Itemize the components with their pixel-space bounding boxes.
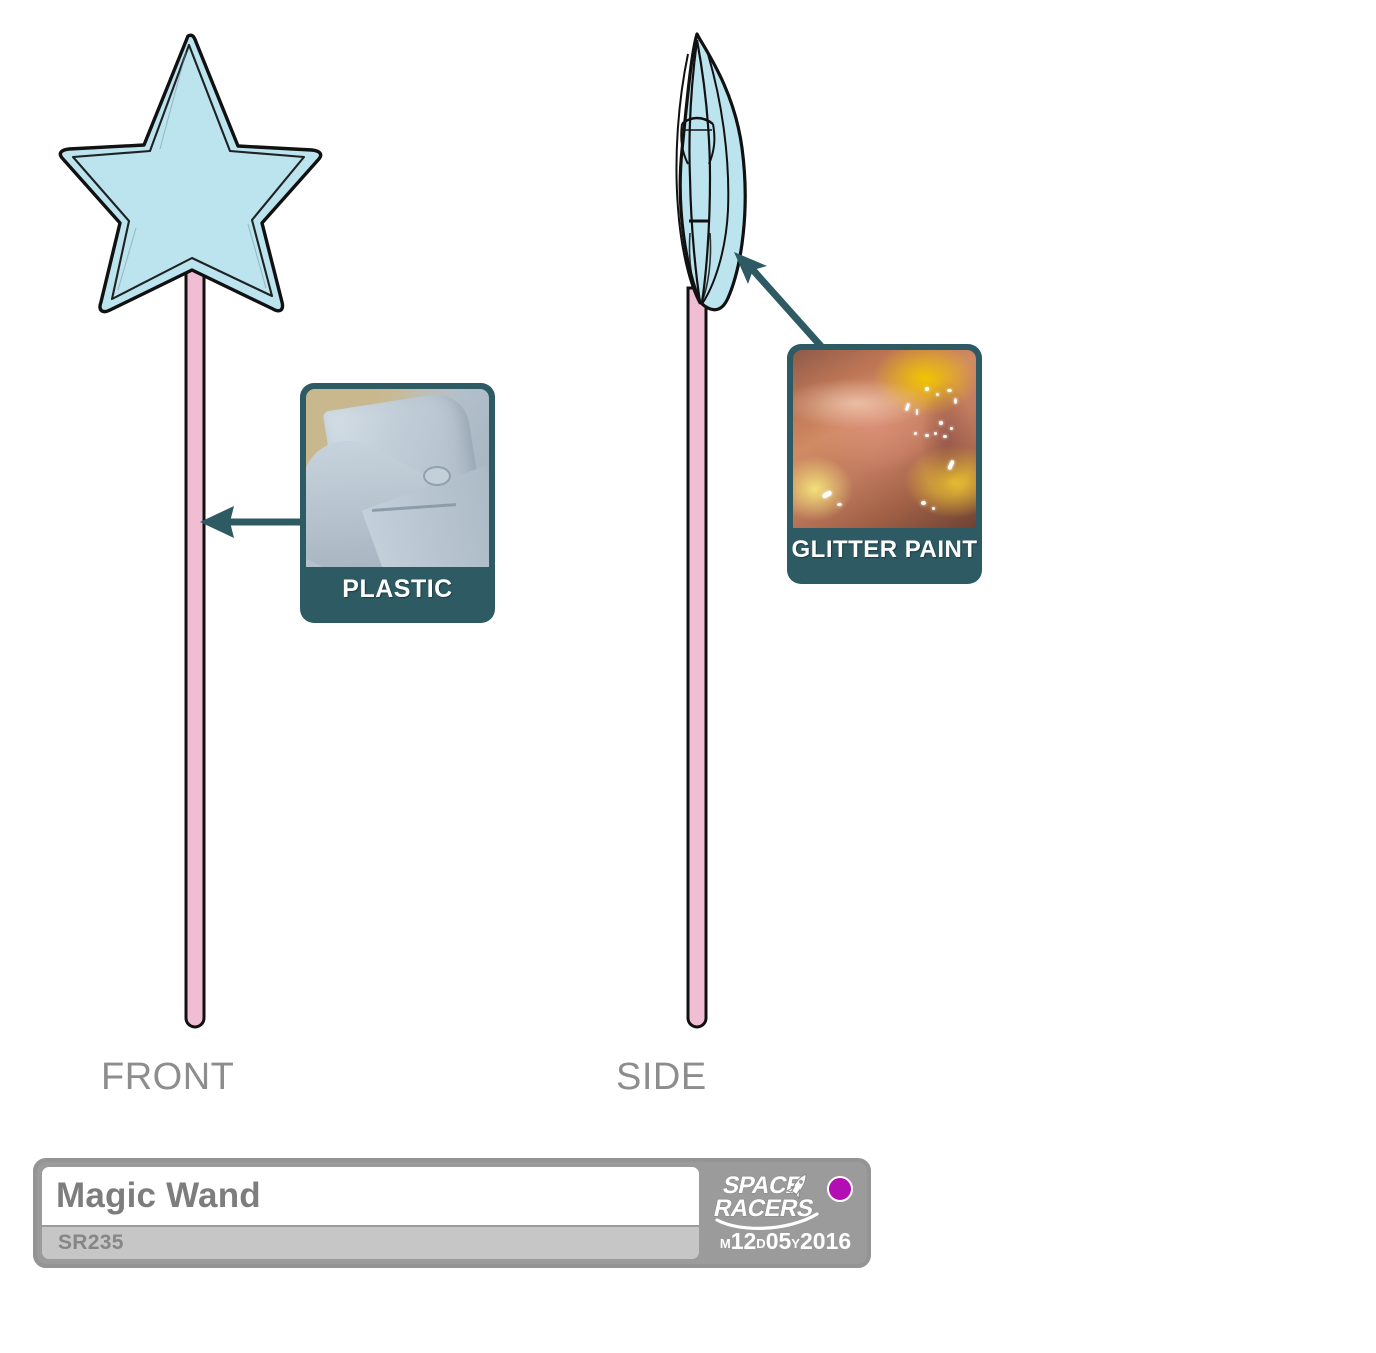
wand-handle-front	[186, 268, 204, 1027]
callout-glitter-label: GLITTER PAINT	[793, 528, 976, 572]
code-field[interactable]: SR235	[40, 1227, 701, 1261]
view-label-side: SIDE	[616, 1056, 707, 1099]
view-label-front: FRONT	[101, 1056, 234, 1099]
brand-status-dot	[827, 1176, 853, 1202]
date-day-prefix: D	[756, 1236, 765, 1251]
date-year-prefix: Y	[791, 1236, 800, 1251]
title-plate: Magic Wand SR235 .lg { font-family: "Lib…	[33, 1158, 871, 1268]
callout-plastic-photo	[306, 389, 489, 567]
date-year: 2016	[800, 1228, 851, 1254]
date-month-prefix: M	[720, 1236, 731, 1251]
title-field[interactable]: Magic Wand	[40, 1165, 701, 1227]
product-view-side	[630, 18, 800, 1048]
callout-plastic-label: PLASTIC	[306, 567, 489, 611]
product-code: SR235	[58, 1231, 124, 1255]
product-title: Magic Wand	[56, 1176, 261, 1216]
date-month: 12	[731, 1228, 757, 1254]
title-plate-left: Magic Wand SR235	[37, 1162, 704, 1264]
space-racers-logo: .lg { font-family: "Liberation Sans", sa…	[713, 1168, 829, 1230]
glitter-sparkles	[793, 350, 976, 528]
callout-plastic[interactable]: PLASTIC	[300, 383, 495, 623]
side-view-drawing	[630, 18, 800, 1048]
spec-sheet-canvas: FRONT SIDE PLASTIC	[0, 0, 1376, 1353]
plate-date: M12D05Y2016	[704, 1228, 867, 1255]
plastic-moulding-mark	[423, 466, 451, 486]
wand-handle-side	[688, 288, 706, 1027]
wand-star-head-front	[60, 35, 320, 311]
title-plate-right: .lg { font-family: "Liberation Sans", sa…	[704, 1162, 867, 1264]
callout-glitter-paint[interactable]: GLITTER PAINT	[787, 344, 982, 584]
date-day: 05	[766, 1228, 792, 1254]
brand-line-2: RACERS	[713, 1195, 816, 1222]
callout-glitter-photo	[793, 350, 976, 528]
